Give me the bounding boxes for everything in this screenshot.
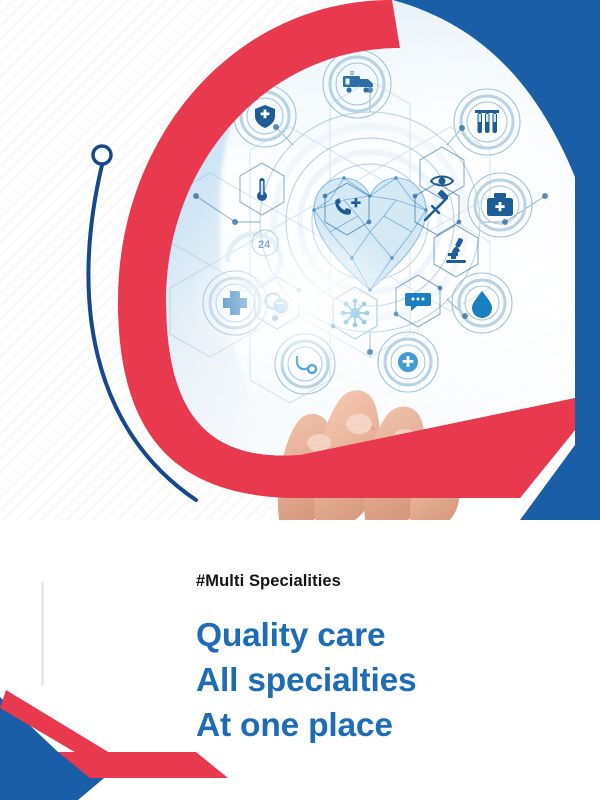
circle-node-marker <box>93 146 111 164</box>
hero-section: 24 24 <box>0 0 600 520</box>
accent-rule <box>41 582 44 686</box>
blue-corner-panel-top <box>393 0 600 250</box>
poster: 24 24 <box>0 0 600 800</box>
hero-decorations <box>0 0 600 520</box>
blue-red-chevron <box>0 690 260 800</box>
tagline: #Multi Specialities <box>196 572 341 591</box>
